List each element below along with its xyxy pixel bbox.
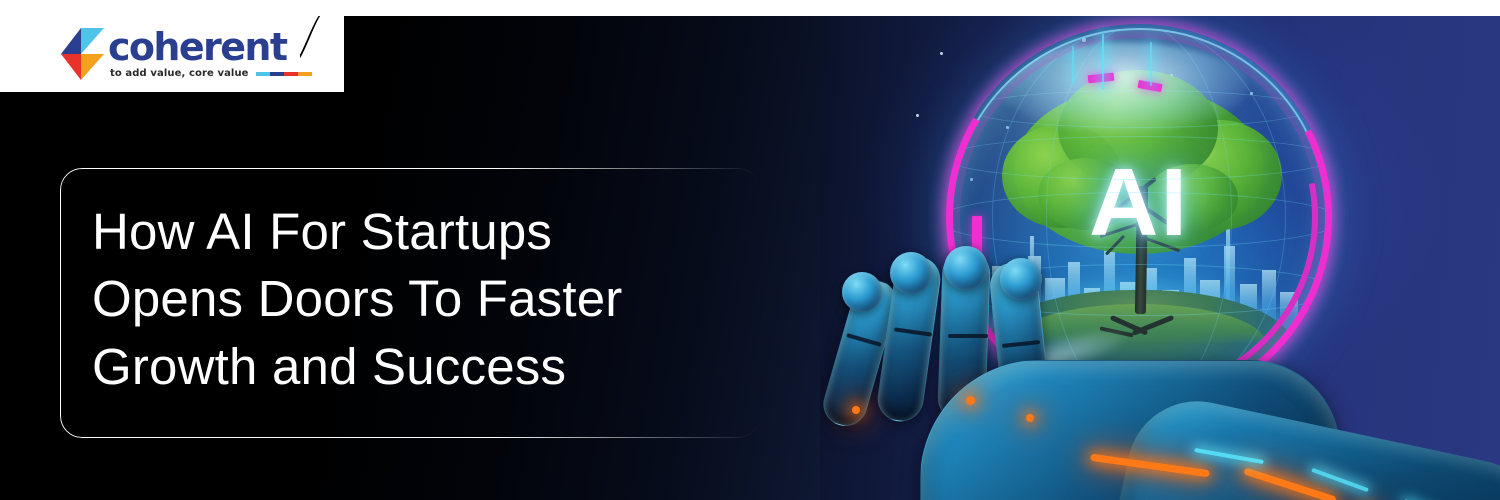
logo-wordmark: coherent — [108, 29, 312, 65]
sparkle-icon — [916, 114, 919, 117]
sparkle-icon — [940, 52, 943, 55]
orange-glow — [852, 406, 860, 414]
headline-card: How AI For Startups Opens Doors To Faste… — [60, 168, 760, 438]
headline-line-3: Growth and Success — [92, 333, 852, 400]
color-bar-cyan — [256, 72, 270, 76]
hero-banner: AI — [0, 0, 1500, 500]
robot-knuckle — [1000, 258, 1042, 300]
color-bar-red — [284, 72, 298, 76]
page-title: How AI For Startups Opens Doors To Faste… — [92, 198, 852, 400]
headline-line-1: How AI For Startups — [92, 198, 852, 265]
robot-hand-icon — [820, 210, 1490, 500]
headline-line-2: Opens Doors To Faster — [92, 265, 852, 332]
color-bar-orange — [298, 72, 312, 76]
robot-knuckle — [944, 246, 988, 290]
coherent-mark-icon — [58, 28, 104, 80]
logo-color-bars — [256, 72, 312, 76]
brand-logo[interactable]: coherent to add value, core value — [58, 28, 312, 80]
robot-knuckle — [890, 252, 932, 294]
color-bar-blue — [270, 72, 284, 76]
ai-artwork: AI — [820, 16, 1500, 500]
logo-text-block: coherent to add value, core value — [108, 28, 312, 79]
orange-glow — [966, 396, 975, 405]
logo-tagline-row: to add value, core value — [110, 68, 312, 79]
orange-glow — [1026, 414, 1034, 422]
logo-tagline: to add value, core value — [110, 68, 249, 79]
